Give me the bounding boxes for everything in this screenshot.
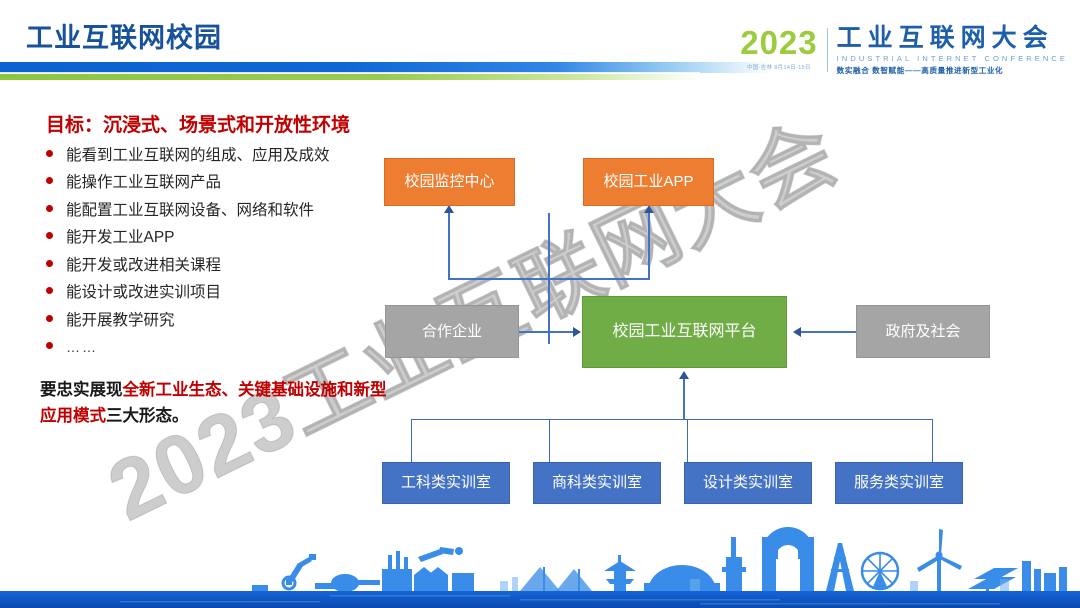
- node-service-training-lab[interactable]: 服务类实训室: [835, 462, 963, 504]
- logo-tagline: 数实融合 数智赋能——高质量推进新型工业化: [837, 65, 1068, 76]
- list-item-label: 能配置工业互联网设备、网络和软件: [66, 201, 314, 222]
- node-label: 校园监控中心: [404, 173, 494, 191]
- node-business-training-lab[interactable]: 商科类实训室: [533, 462, 661, 504]
- goal-heading: 目标：沉浸式、场景式和开放性环境: [46, 110, 350, 137]
- connector-government-to-platform: [801, 331, 856, 333]
- node-label: 校园工业互联网平台: [612, 322, 756, 341]
- connector-drop-service: [932, 419, 933, 463]
- list-item-label: 能操作工业互联网产品: [66, 173, 221, 194]
- bullet-dot-icon: [46, 205, 53, 212]
- node-government-society[interactable]: 政府及社会: [856, 305, 990, 358]
- node-label: 工科类实训室: [401, 474, 491, 492]
- bullet-dot-icon: [46, 177, 53, 184]
- node-label: 设计类实训室: [703, 474, 793, 492]
- header-accent-bar-green: [0, 74, 700, 80]
- arrow-up-industrial-app: [644, 205, 654, 213]
- connector-drop-design: [687, 419, 688, 463]
- bullet-dot-icon: [46, 287, 53, 294]
- connector-to-industrial-app: [648, 212, 650, 279]
- arrow-up-monitor-center: [444, 205, 454, 213]
- bullet-dot-icon: [46, 150, 53, 157]
- connector-partner-to-platform: [519, 331, 574, 333]
- node-label: 政府及社会: [885, 323, 960, 341]
- logo-year-block: 2023 中国·吉林 8月14日-15日: [740, 26, 826, 71]
- node-label: 商科类实训室: [552, 474, 642, 492]
- logo-name-en: INDUSTRIAL INTERNET CONFERENCE: [837, 54, 1068, 63]
- page-title: 工业互联网校园: [26, 16, 222, 55]
- node-label: 合作企业: [422, 323, 482, 341]
- node-campus-monitoring-center[interactable]: 校园监控中心: [384, 158, 515, 206]
- connector-bottom-trunk: [683, 379, 685, 420]
- node-campus-industrial-app[interactable]: 校园工业APP: [583, 158, 714, 206]
- logo-date-location: 中国·吉林 8月14日-15日: [747, 63, 811, 71]
- slide-root: 工业互联网校园 2023 中国·吉林 8月14日-15日 工业互联网大会 IND…: [0, 0, 1080, 608]
- arrow-up-platform: [679, 371, 689, 379]
- list-item-label: 能开发工业APP: [66, 228, 175, 249]
- arrow-left-government: [793, 327, 801, 337]
- logo-name-block: 工业互联网大会 INDUSTRIAL INTERNET CONFERENCE 数…: [828, 26, 1068, 76]
- closing-lead: 要忠实展现: [40, 381, 123, 399]
- list-item-label: 能开展教学研究: [66, 311, 175, 332]
- connector-drop-business: [549, 419, 550, 463]
- logo-name-cn: 工业互联网大会: [837, 26, 1068, 51]
- bullet-dot-icon: [46, 315, 53, 322]
- bullet-dot-icon: [46, 260, 53, 267]
- connector-drop-engineering: [411, 419, 412, 463]
- bullet-dot-icon: [46, 232, 53, 239]
- city-skyline-illustration: [0, 513, 1080, 608]
- arrow-right-partner: [573, 327, 581, 337]
- node-campus-industrial-internet-platform[interactable]: 校园工业互联网平台: [582, 296, 787, 368]
- node-engineering-training-lab[interactable]: 工科类实训室: [382, 462, 510, 504]
- node-label: 服务类实训室: [854, 474, 944, 492]
- node-design-training-lab[interactable]: 设计类实训室: [684, 462, 812, 504]
- list-item-label: 能看到工业互联网的组成、应用及成效: [66, 146, 330, 167]
- closing-statement: 要忠实展现全新工业生态、关键基础设施和新型应用模式三大形态。: [40, 378, 390, 429]
- bullet-dot-icon: [46, 342, 53, 349]
- connector-to-monitor-center: [448, 212, 450, 279]
- closing-tail: 三大形态。: [106, 407, 189, 425]
- list-item-label: 能设计或改进实训项目: [66, 283, 221, 304]
- node-partner-enterprise[interactable]: 合作企业: [385, 305, 519, 358]
- connector-bottom-bus: [411, 419, 933, 420]
- logo-year: 2023: [740, 26, 817, 59]
- list-item-label: ……: [66, 338, 98, 357]
- architecture-diagram: 校园监控中心 校园工业APP 合作企业 校园工业互联网平台 政府及社会 工科类实…: [360, 150, 1000, 510]
- conference-logo: 2023 中国·吉林 8月14日-15日 工业互联网大会 INDUSTRIAL …: [740, 26, 1068, 76]
- connector-top-bus: [448, 278, 650, 280]
- node-label: 校园工业APP: [603, 173, 693, 191]
- list-item-label: 能开发或改进相关课程: [66, 256, 221, 277]
